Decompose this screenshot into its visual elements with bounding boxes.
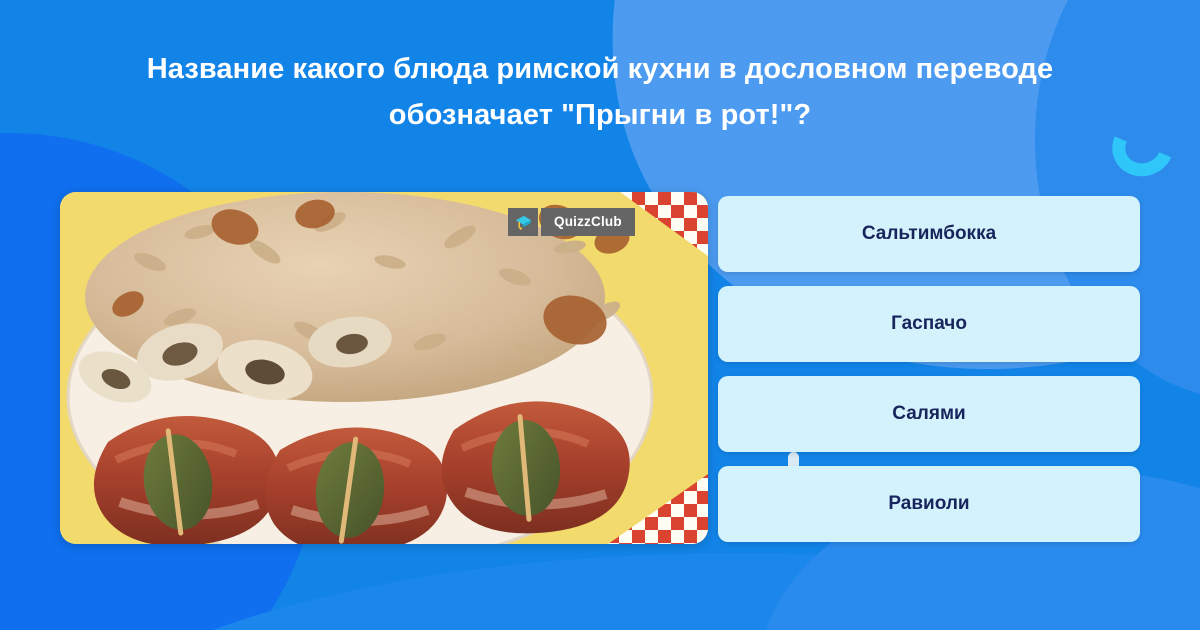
answer-option-1[interactable]: Сальтимбокка [718,196,1140,272]
answer-option-3-label: Салями [892,403,965,425]
food-photo-illustration [60,192,708,544]
quizzclub-badge[interactable]: QuizzClub [508,208,635,236]
quizzclub-label: QuizzClub [541,208,635,236]
question-image [60,192,708,544]
quiz-card: Название какого блюда римской кухни в до… [0,0,1200,630]
answer-option-4-label: Равиоли [888,493,969,515]
answer-option-4[interactable]: Равиоли [718,466,1140,542]
answer-option-2-label: Гаспачо [891,313,967,335]
answer-list: Сальтимбокка Гаспачо Салями Равиоли [718,196,1140,542]
answer-option-2[interactable]: Гаспачо [718,286,1140,362]
question-text: Название какого блюда римской кухни в до… [100,46,1100,138]
graduation-cap-icon [508,208,538,236]
answer-option-3[interactable]: Салями [718,376,1140,452]
answer-option-1-label: Сальтимбокка [862,223,996,245]
